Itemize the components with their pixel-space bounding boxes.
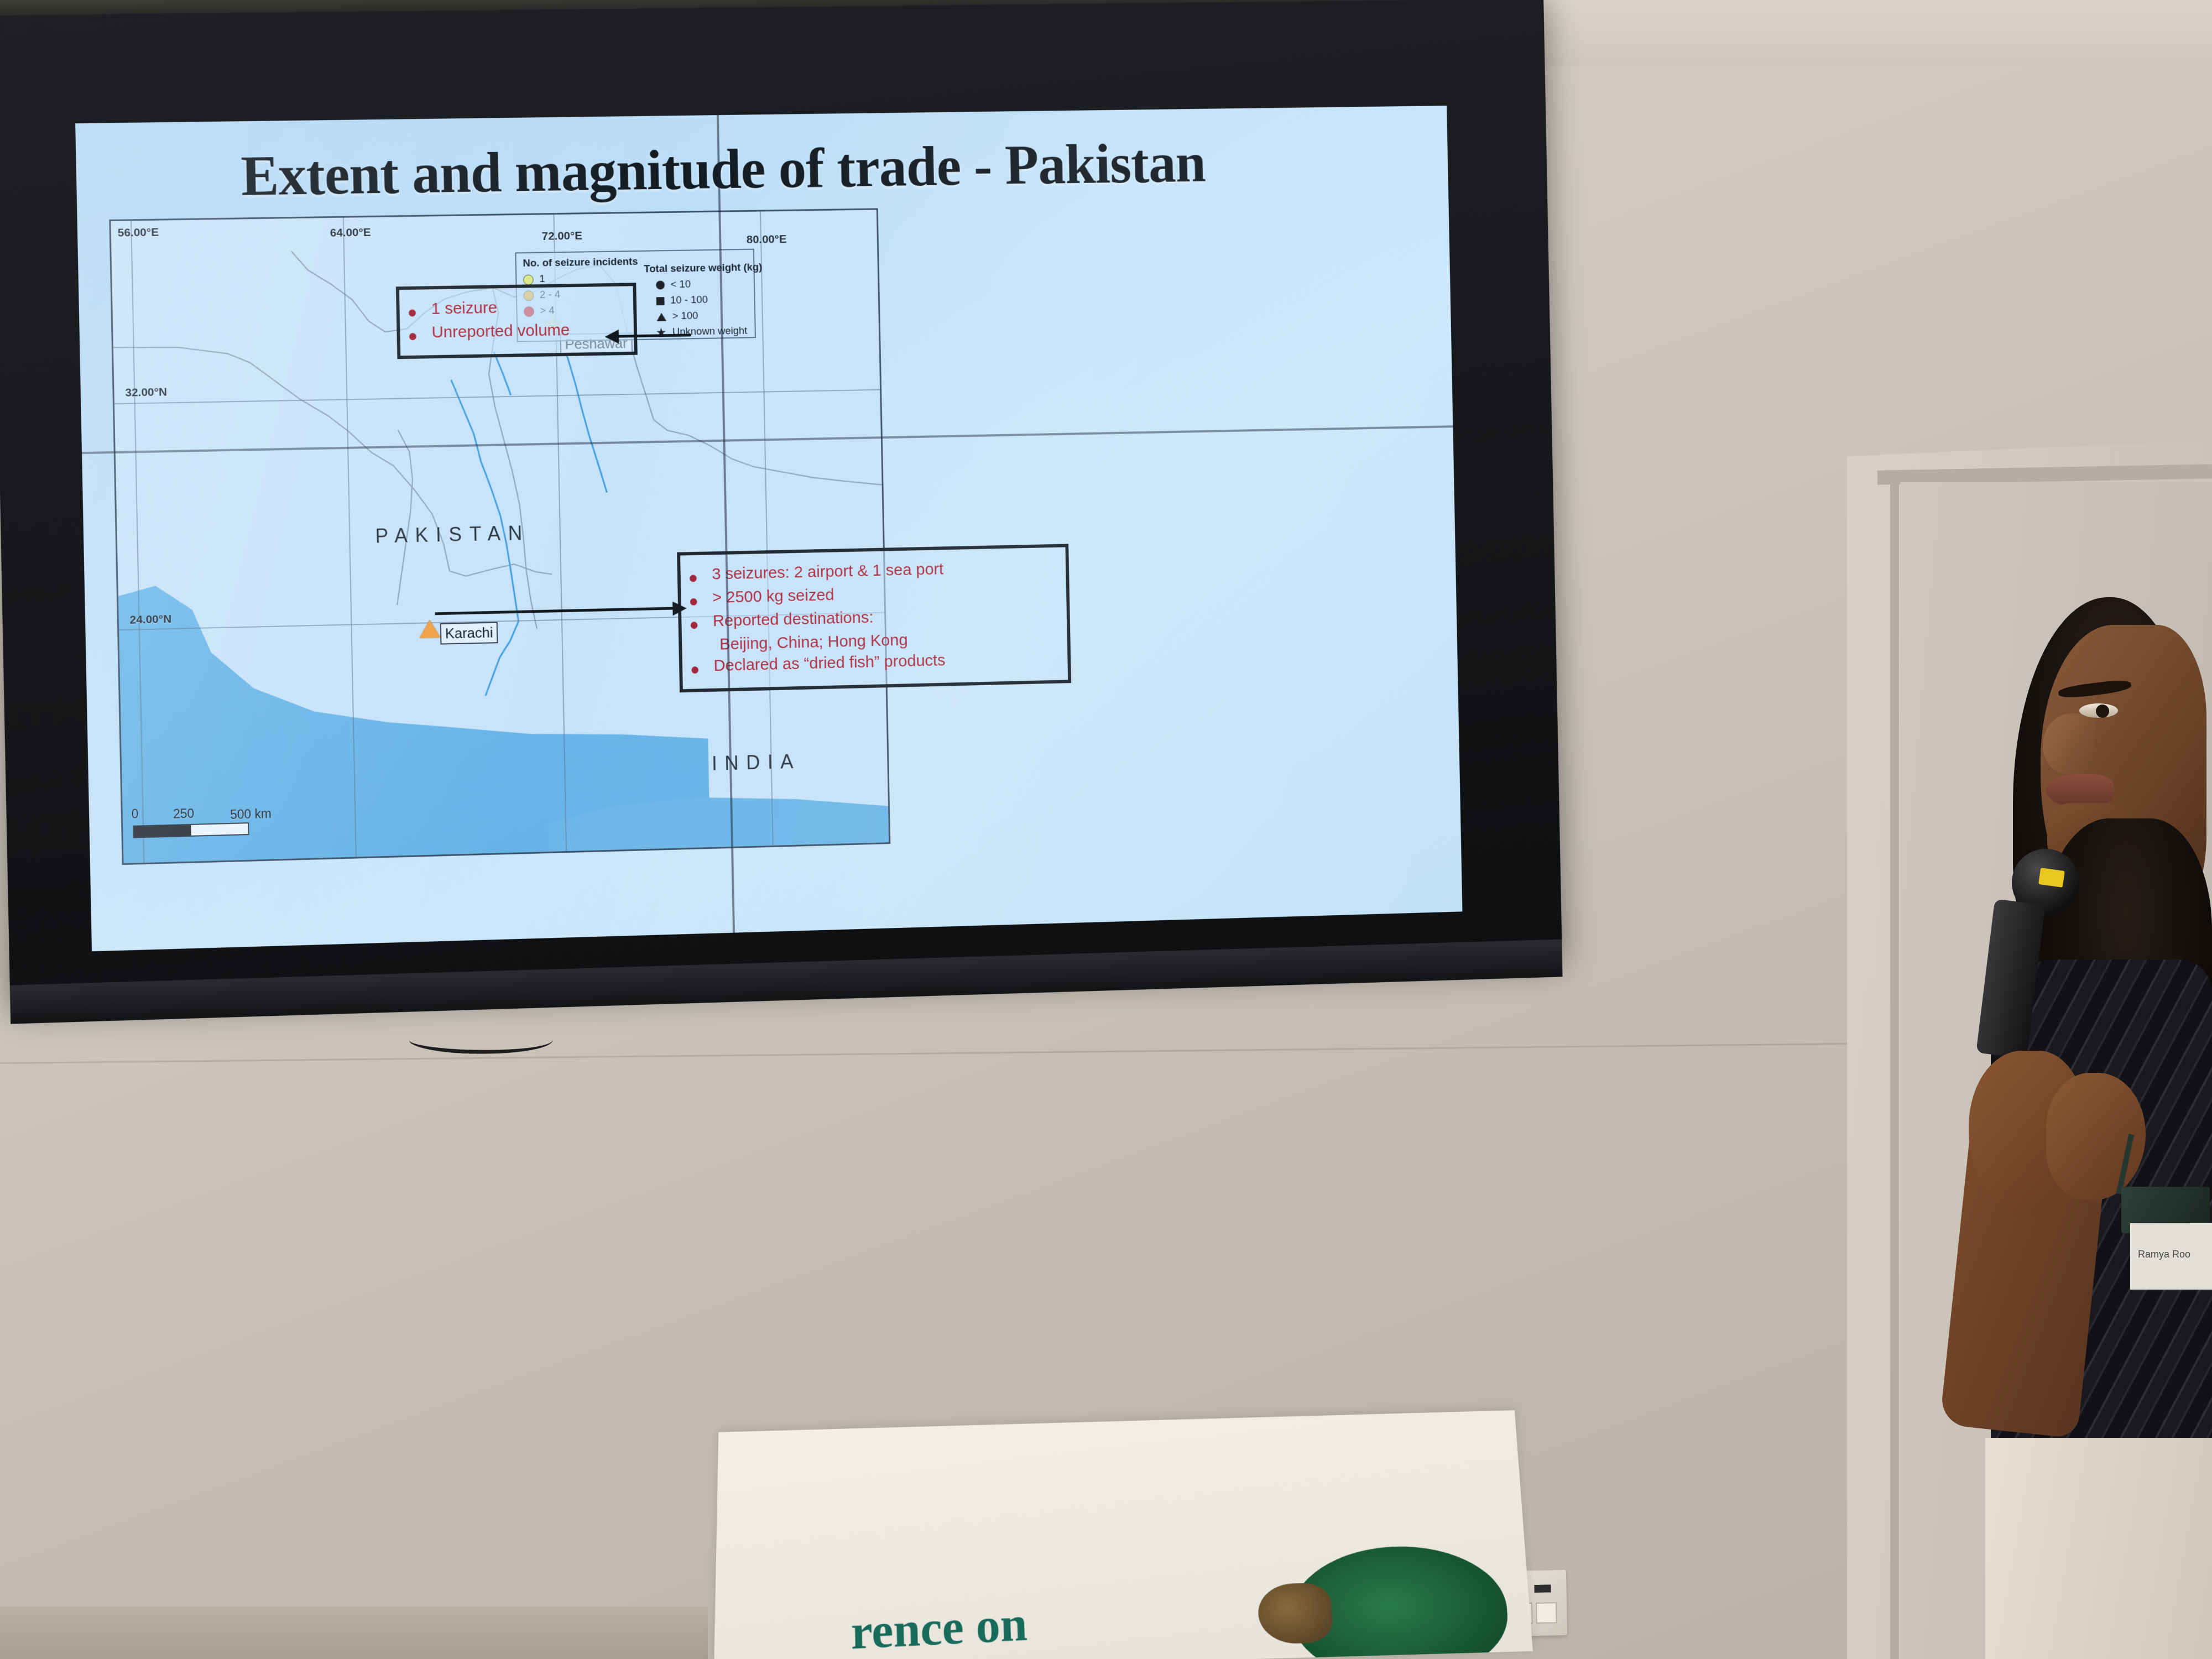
legend-weight-item: < 10: [656, 278, 763, 291]
socket-port-right[interactable]: [1536, 1602, 1557, 1624]
map-label-pakistan: PAKISTAN: [375, 521, 530, 548]
presenter-nose: [2043, 713, 2096, 774]
photo-scene: Extent and magnitude of trade - Pakistan: [0, 0, 2212, 1659]
legend-circle-yellow-icon: [523, 274, 534, 285]
callout-text: > 2500 kg seized: [712, 586, 834, 608]
legend-incidents-label: 1: [539, 273, 545, 285]
legend-triangle-icon: [656, 312, 666, 321]
legend-weight-item: 10 - 100: [656, 293, 763, 307]
scalebar-segment-dark: [134, 825, 191, 837]
door-casing-left: [1890, 476, 1899, 1659]
presentation-slide[interactable]: Extent and magnitude of trade - Pakistan: [75, 106, 1462, 951]
callout-line: ● 1 seizure: [407, 296, 624, 321]
video-wall-display[interactable]: Extent and magnitude of trade - Pakistan: [0, 0, 1572, 990]
peshawar-callout: ● 1 seizure ● Unreported volume: [396, 283, 638, 359]
bullet-icon: ●: [688, 570, 698, 586]
legend-weight-label: 10 - 100: [670, 294, 708, 307]
tick-label-lon-72: 72.00°E: [542, 229, 583, 243]
bullet-icon: ●: [688, 593, 698, 610]
scalebar-tick-250: 250: [173, 806, 195, 822]
tick-label-lat-24: 24.00°N: [129, 613, 171, 627]
turtle-head-illustration: [1257, 1582, 1333, 1644]
slide-title: Extent and magnitude of trade - Pakistan: [241, 130, 1260, 209]
bullet-icon: ●: [407, 304, 417, 321]
peshawar-arrow-head-icon: [604, 330, 619, 344]
bullet-icon: ●: [690, 662, 700, 679]
scalebar-tick-0: 0: [131, 807, 138, 822]
scalebar-tick-500: 500 km: [230, 806, 272, 822]
tick-label-lon-56: 56.00°E: [117, 226, 159, 240]
karachi-city-label: Karachi: [440, 622, 498, 645]
bullet-icon: ●: [408, 328, 418, 345]
tick-label-lon-64: 64.00°E: [330, 226, 371, 240]
badge-name-text: Ramya Roo: [2138, 1249, 2190, 1260]
legend-weight-label: < 10: [670, 279, 691, 291]
presenter-trousers: [1985, 1438, 2212, 1659]
microphone-tag: [2038, 868, 2065, 888]
socket-label-slot-right: [1534, 1584, 1551, 1593]
callout-text: 1 seizure: [431, 298, 497, 319]
presenter-pupil: [2096, 705, 2109, 718]
tick-label-lat-32: 32.00°N: [125, 386, 167, 400]
legend-square-icon: [656, 297, 665, 305]
conference-poster: rence on: [714, 1410, 1533, 1659]
karachi-callout: ● 3 seizures: 2 airport & 1 sea port ● >…: [677, 544, 1071, 692]
callout-text: Declared as “dried fish” products: [713, 651, 946, 676]
bullet-icon: ●: [689, 617, 699, 633]
map-label-india: INDIA: [712, 750, 801, 775]
legend-filled-circle-icon: [656, 281, 665, 290]
floor-strip: [0, 1606, 708, 1659]
callout-text: 3 seizures: 2 airport & 1 sea port: [712, 560, 944, 584]
callout-line: ● Unreported volume: [408, 320, 624, 345]
legend-weight-column: Total seizure weight (kg) < 10 10 - 100: [644, 262, 764, 339]
scalebar-segment-light: [191, 823, 248, 836]
poster-text: rence on: [851, 1595, 1029, 1659]
callout-text: Reported destinations:: [713, 608, 874, 630]
tick-label-lon-80: 80.00°E: [747, 233, 787, 247]
legend-weight-item: > 100: [656, 309, 763, 323]
legend-weight-heading: Total seizure weight (kg): [644, 262, 762, 275]
karachi-triangle-icon: [419, 620, 440, 638]
legend-incidents-heading: No. of seizure incidents: [523, 256, 638, 270]
karachi-arrow-head-icon: [672, 601, 687, 615]
callout-text: Unreported volume: [431, 321, 570, 342]
legend-weight-label: > 100: [672, 310, 698, 322]
